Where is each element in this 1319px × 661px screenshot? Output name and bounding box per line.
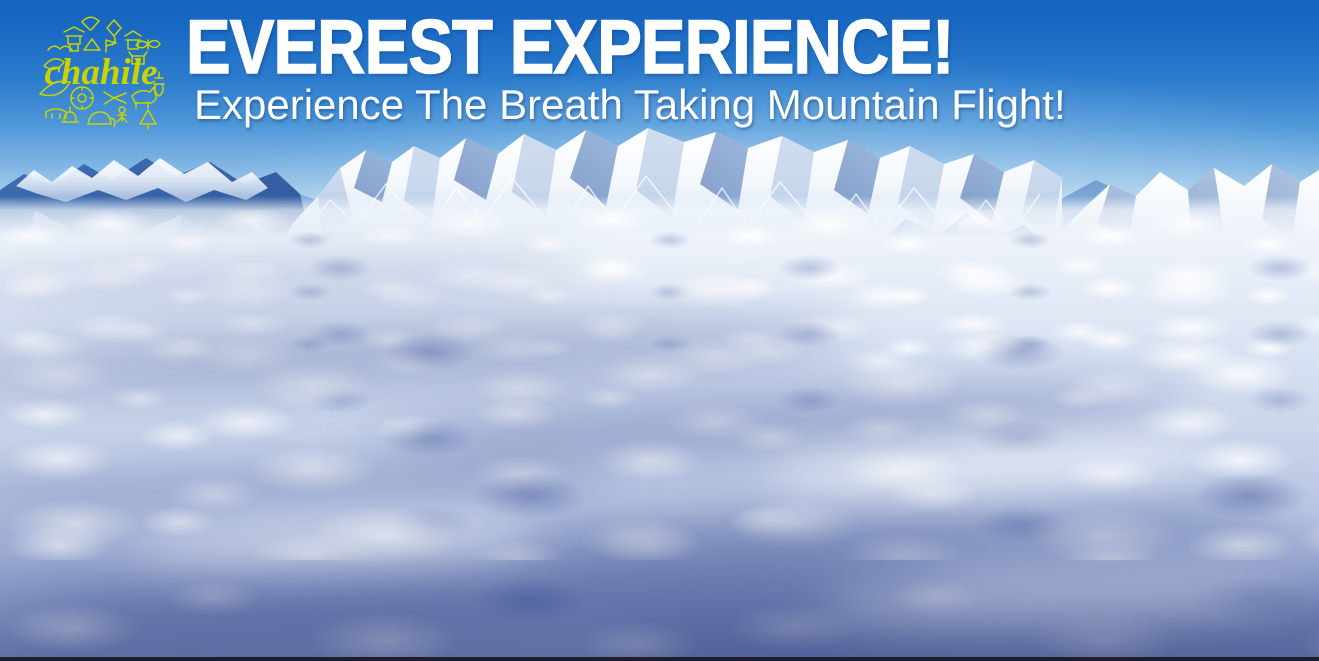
- flag-icon: [106, 40, 116, 52]
- elephant-icon: [88, 112, 115, 126]
- paraglider-icon: [82, 17, 99, 30]
- stupa-icon: [62, 107, 78, 122]
- page-title: EVEREST EXPERIENCE!: [186, 12, 960, 85]
- pagoda-icon: [64, 27, 84, 51]
- hiker-icon: [117, 107, 127, 122]
- bridge-icon: [46, 109, 66, 118]
- bottom-border: [0, 657, 1319, 661]
- logo-wordmark: chahile: [44, 52, 157, 93]
- everest-experience-banner: chahile EVEREST EXPERIENCE! Experience T…: [0, 0, 1319, 661]
- mountain-icon: [84, 39, 100, 50]
- bird-flight-icon: [104, 92, 126, 104]
- bird-icon: [48, 46, 72, 50]
- chahile-logo[interactable]: chahile: [22, 6, 180, 136]
- cloud-puff-layer-4: [0, 470, 1319, 661]
- banner-header: chahile EVEREST EXPERIENCE! Experience T…: [0, 0, 1319, 140]
- title-block: EVEREST EXPERIENCE! Experience The Breat…: [186, 12, 1066, 127]
